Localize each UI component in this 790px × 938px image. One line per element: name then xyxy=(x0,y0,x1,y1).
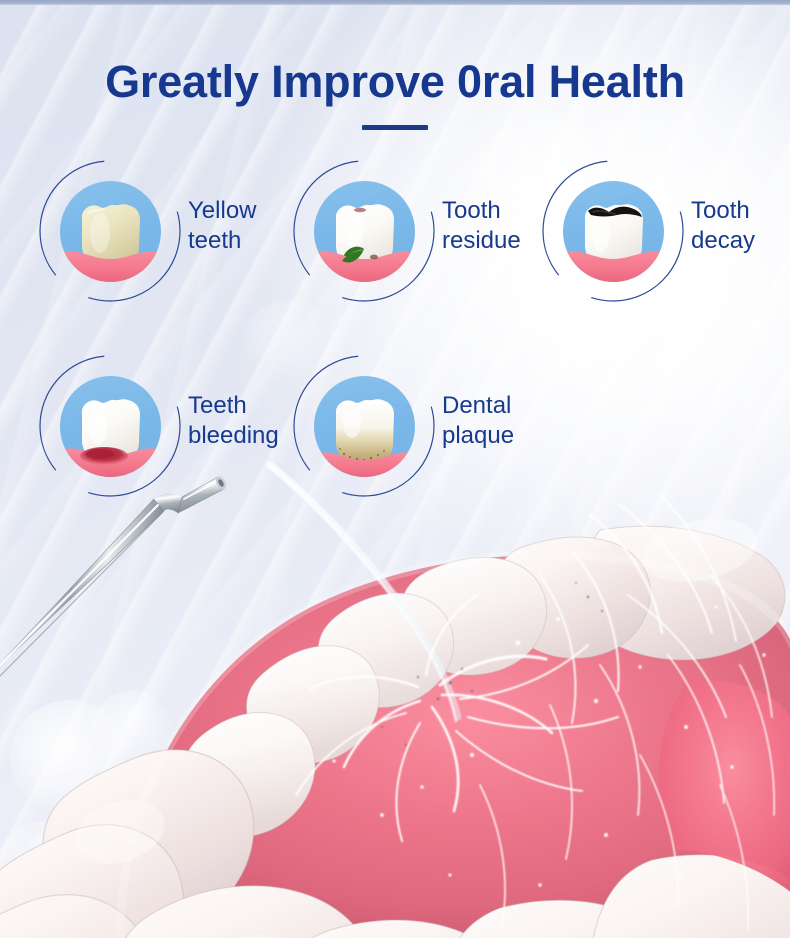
badge-tooth-residue[interactable]: Tooth residue xyxy=(290,157,440,307)
badge-label: Tooth decay xyxy=(691,196,755,256)
badge-label: Tooth residue xyxy=(442,196,521,256)
heading-divider xyxy=(362,125,428,130)
page-title: Greatly Improve 0ral Health xyxy=(0,58,790,105)
yellow-tooth-icon xyxy=(60,181,161,282)
tooth-with-food-residue-icon xyxy=(314,181,415,282)
badge-yellow-teeth[interactable]: Yellow teeth xyxy=(36,157,186,307)
badge-label: Teeth bleeding xyxy=(188,391,279,451)
badge-teeth-bleeding[interactable]: Teeth bleeding xyxy=(36,352,186,502)
badge-tooth-decay[interactable]: Tooth decay xyxy=(539,157,689,307)
badge-label: Dental plaque xyxy=(442,391,514,451)
poster-root: Greatly Improve 0ral Health xyxy=(0,0,790,938)
bleeding-gum-tooth-icon xyxy=(60,376,161,477)
decayed-tooth-icon xyxy=(563,181,664,282)
badge-dental-plaque[interactable]: Dental plaque xyxy=(290,352,440,502)
top-accent-strip xyxy=(0,0,790,5)
badge-label: Yellow teeth xyxy=(188,196,257,256)
plaque-tooth-icon xyxy=(314,376,415,477)
